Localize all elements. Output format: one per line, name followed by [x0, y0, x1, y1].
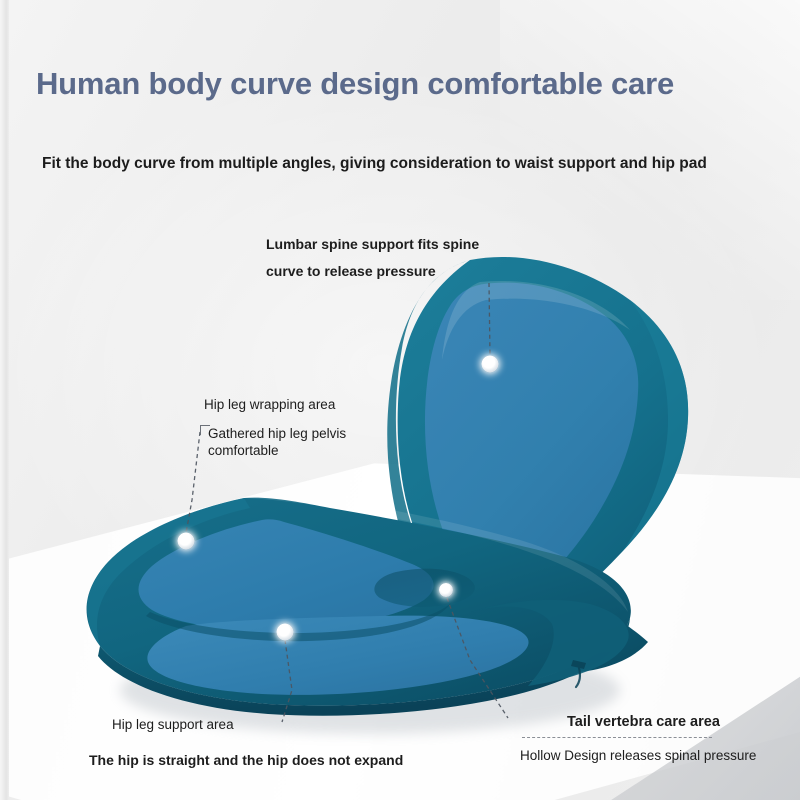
annotation-hollow-design: Hollow Design releases spinal pressure [520, 746, 756, 767]
annotation-hip-leg-wrapping: Hip leg wrapping area [204, 395, 335, 416]
hotspot-dot-lumbar[interactable] [482, 356, 499, 373]
annotation-lumbar-spine-line2: curve to release pressure [266, 258, 479, 285]
annotation-lumbar-spine: Lumbar spine support fits spine curve to… [266, 231, 479, 286]
annotation-lumbar-spine-line1: Lumbar spine support fits spine [266, 231, 479, 258]
seat-cushion-illustration [0, 0, 800, 800]
tail-vertebra-dashed-rule [522, 737, 712, 738]
annotation-hip-straight: The hip is straight and the hip does not… [89, 750, 403, 772]
hotspot-dot-hip-leg-wrapping[interactable] [178, 533, 195, 550]
annotation-hip-leg-support: Hip leg support area [112, 715, 234, 736]
product-infographic-poster: Human body curve design comfortable care… [0, 0, 800, 800]
hotspot-dot-hip-leg-support[interactable] [277, 624, 294, 641]
hotspot-dot-tail-vertebra[interactable] [439, 583, 453, 597]
annotation-tail-vertebra: Tail vertebra care area [567, 711, 720, 733]
page-subtitle: Fit the body curve from multiple angles,… [42, 155, 707, 173]
page-title: Human body curve design comfortable care [36, 66, 674, 102]
hollow-coccyx-cutout [374, 569, 474, 607]
annotation-gathered-hip-leg-pelvis: Gathered hip leg pelvis comfortable [208, 426, 358, 460]
